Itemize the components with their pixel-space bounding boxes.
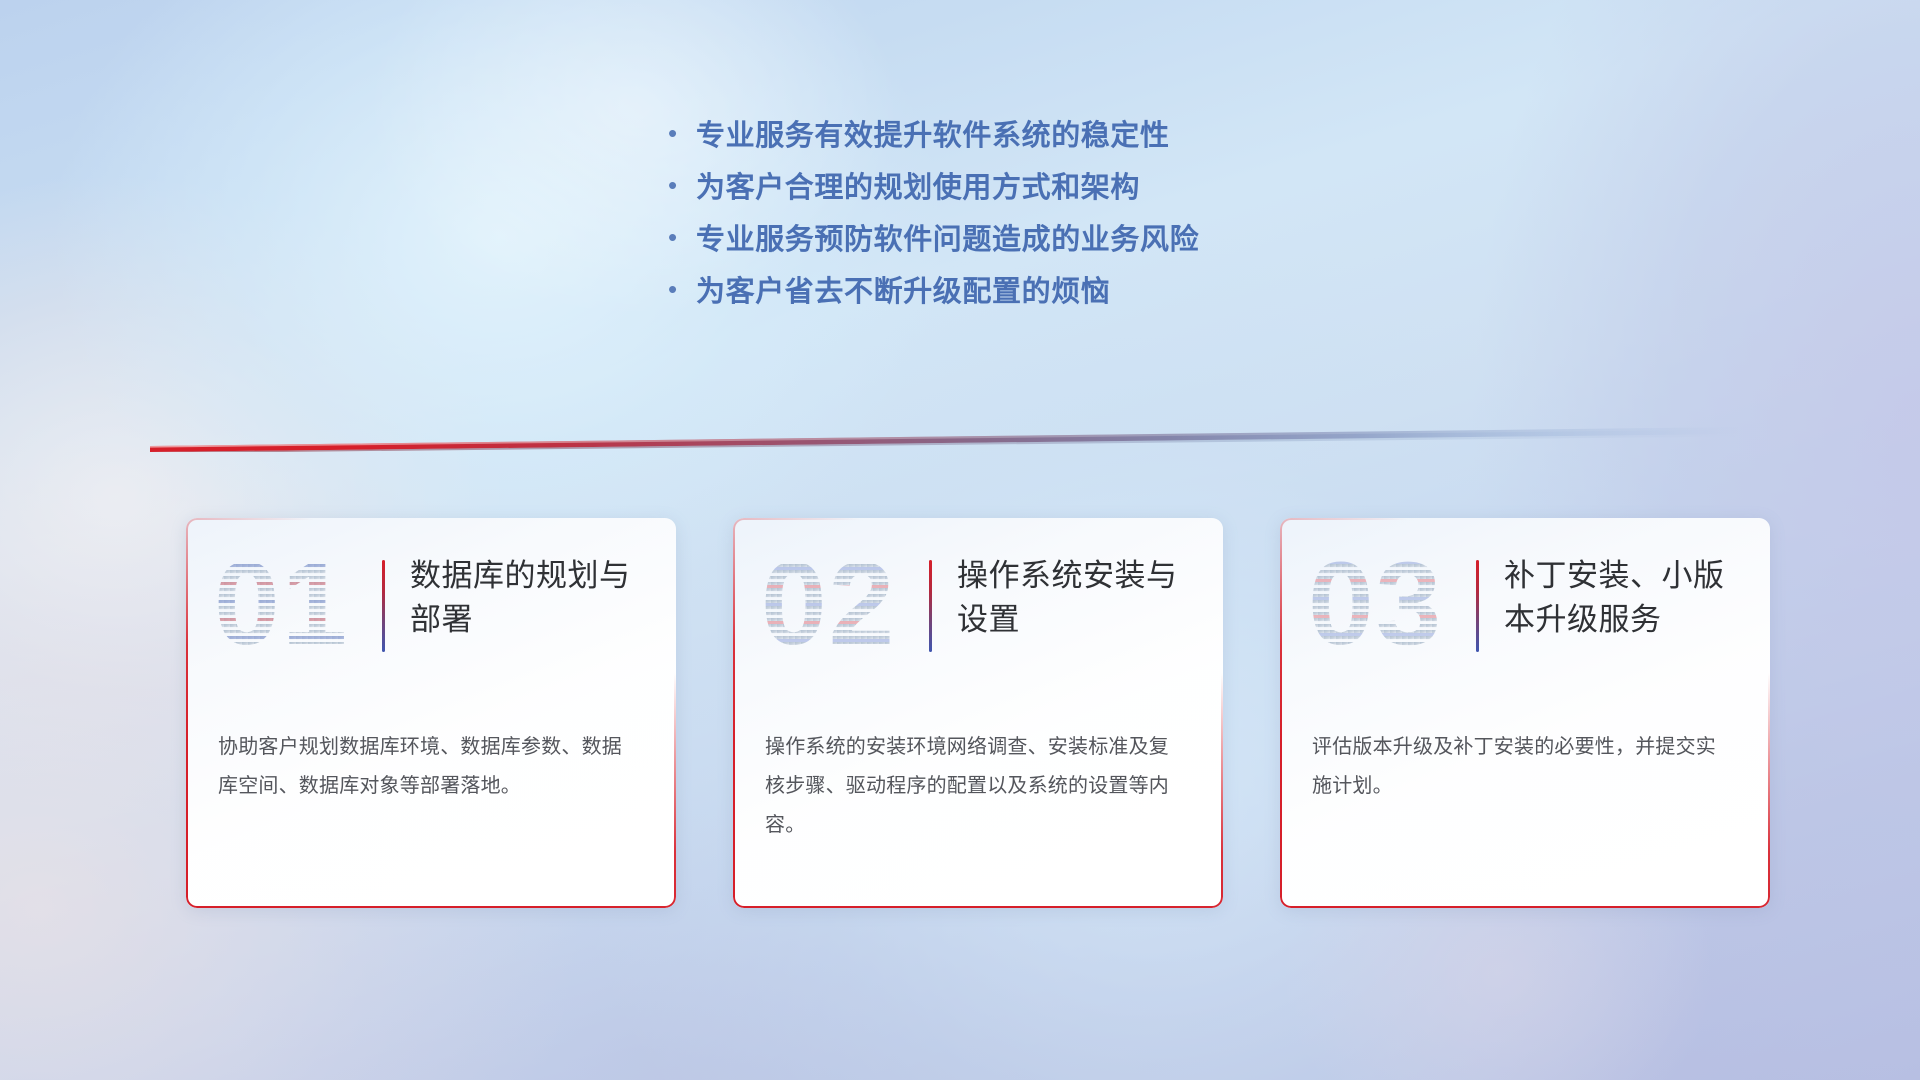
card-body-text: 评估版本升级及补丁安装的必要性，并提交实施计划。 [1312,728,1736,806]
card-title-accent-rule [1476,560,1479,652]
card-title: 数据库的规划与部署 [410,554,660,642]
svg-text:01: 01 [214,540,349,668]
bullet-item-label: 专业服务有效提升软件系统的稳定性 [696,112,1170,154]
card-title: 操作系统安装与设置 [957,554,1207,642]
bullet-item-label: 为客户合理的规划使用方式和架构 [696,164,1140,206]
card-title-accent-rule [929,560,932,652]
benefits-bullet-list: 专业服务有效提升软件系统的稳定性 为客户合理的规划使用方式和架构 专业服务预防软… [668,112,1428,320]
bullet-dot-icon [668,224,696,250]
card-title-accent-rule [382,560,385,652]
bullet-item: 专业服务预防软件问题造成的业务风险 [668,216,1428,268]
card-title: 补丁安装、小版本升级服务 [1504,554,1754,642]
card-number-watermark: 02 02 [759,540,909,668]
divider-graphic [0,408,1920,452]
bullet-dot-icon [668,120,696,146]
svg-text:03: 03 [1308,540,1443,668]
section-divider [0,408,1920,452]
bullet-item: 专业服务有效提升软件系统的稳定性 [668,112,1428,164]
service-card-list: 01 01 数据库的规划与部署 协助客户规划数据库环境、数据库参数、数据库空间、… [186,518,1786,908]
card-number-watermark: 03 03 [1306,540,1456,668]
card-body-text: 协助客户规划数据库环境、数据库参数、数据库空间、数据库对象等部署落地。 [218,728,642,806]
card-body-text: 操作系统的安装环境网络调查、安装标准及复核步骤、驱动程序的配置以及系统的设置等内… [765,728,1189,845]
bullet-item-label: 专业服务预防软件问题造成的业务风险 [696,216,1199,258]
bullet-item: 为客户合理的规划使用方式和架构 [668,164,1428,216]
bullet-dot-icon [668,172,696,198]
bullet-dot-icon [668,276,696,302]
service-card[interactable]: 01 01 数据库的规划与部署 协助客户规划数据库环境、数据库参数、数据库空间、… [186,518,676,908]
card-number-watermark: 01 01 [212,540,362,668]
bullet-item: 为客户省去不断升级配置的烦恼 [668,268,1428,320]
service-card[interactable]: 02 02 操作系统安装与设置 操作系统的安装环境网络调查、安装标准及复核步骤、… [733,518,1223,908]
service-card[interactable]: 03 03 补丁安装、小版本升级服务 评估版本升级及补丁安装的必要性，并提交实施… [1280,518,1770,908]
bullet-item-label: 为客户省去不断升级配置的烦恼 [696,268,1110,310]
svg-text:02: 02 [761,540,896,668]
